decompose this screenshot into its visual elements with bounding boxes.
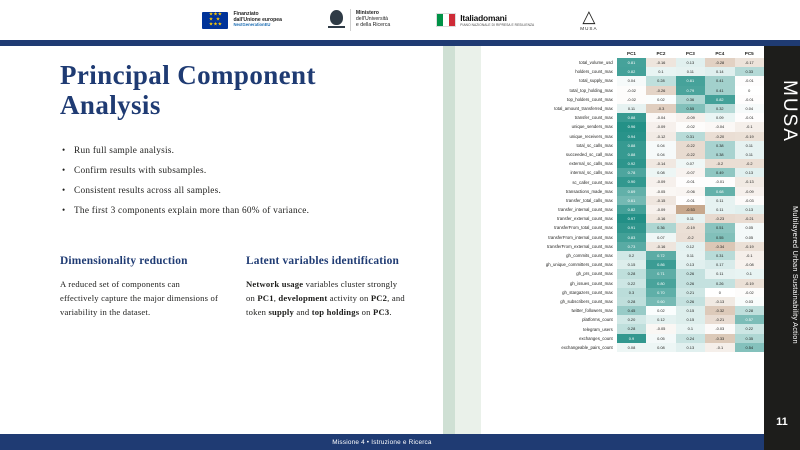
heatmap-cell-wrap: -0.1 bbox=[705, 343, 734, 352]
heatmap-table: PC1PC2PC3PC4PC5total_volume_usd0.81-0.16… bbox=[463, 50, 764, 352]
heatmap-cell-wrap: -0.20 bbox=[705, 132, 734, 141]
heatmap-cell: 0.15 bbox=[676, 306, 705, 315]
heatmap-row-label: total_volume_usd bbox=[463, 58, 617, 67]
heatmap-cell-wrap: 0.07 bbox=[676, 159, 705, 168]
heatmap-cell: 0.88 bbox=[617, 113, 646, 122]
heatmap-cell: 0.05 bbox=[735, 223, 765, 232]
heatmap-cell-wrap: 0.12 bbox=[676, 242, 705, 251]
heatmap-cell-wrap: -0.2 bbox=[735, 159, 765, 168]
heatmap-cell-wrap: -0.09 bbox=[646, 177, 675, 186]
heatmap-cell-wrap: 0.54 bbox=[735, 343, 765, 352]
heatmap-cell-wrap: -0.04 bbox=[705, 122, 734, 131]
heatmap-cell-wrap: 0.09 bbox=[705, 113, 734, 122]
heatmap-cell: -0.04 bbox=[705, 122, 734, 131]
heatmap-cell-wrap: 0.92 bbox=[617, 159, 646, 168]
heatmap-cell: -0.22 bbox=[676, 141, 705, 150]
heatmap-cell-wrap: -0.02 bbox=[735, 288, 765, 297]
heatmap-cell-wrap: 0.04 bbox=[735, 104, 765, 113]
heatmap-cell: 0.04 bbox=[735, 104, 765, 113]
heatmap-cell: -0.01 bbox=[676, 196, 705, 205]
republic-emblem-icon bbox=[328, 10, 345, 30]
heatmap-cell: -0.12 bbox=[646, 132, 675, 141]
heatmap-cell: -0.2 bbox=[676, 233, 705, 242]
heatmap-cell-wrap: -0.2 bbox=[705, 159, 734, 168]
heatmap-cell-wrap: 0.28 bbox=[617, 297, 646, 306]
table-row: sc_caller_count_max0.90-0.09-0.01-0.01-0… bbox=[463, 177, 764, 186]
heatmap-row-label: twitter_followers_max bbox=[463, 306, 617, 315]
heatmap-row-label: total_supply_max bbox=[463, 76, 617, 85]
heatmap-cell-wrap: 0.03 bbox=[735, 297, 765, 306]
heatmap-cell-wrap: -0.02 bbox=[676, 122, 705, 131]
heatmap-cell-wrap: 0.13 bbox=[735, 168, 765, 177]
heatmap-cell: 0.13 bbox=[735, 205, 765, 214]
heatmap-cell-wrap: -0.3 bbox=[646, 104, 675, 113]
heatmap-cell: 0.15 bbox=[676, 315, 705, 324]
heatmap-cell: 0.38 bbox=[705, 150, 734, 159]
heatmap-cell-wrap: 0 bbox=[735, 86, 765, 95]
heatmap-cell: -0.09 bbox=[646, 177, 675, 186]
heatmap-cell: -0.26 bbox=[646, 86, 675, 95]
heatmap-cell: -0.19 bbox=[676, 223, 705, 232]
heatmap-cell-wrap: -0.32 bbox=[705, 306, 734, 315]
heatmap-cell-wrap: 0.28 bbox=[617, 324, 646, 333]
italy-flag-icon bbox=[436, 13, 456, 27]
heatmap-cell-wrap: -0.02 bbox=[617, 95, 646, 104]
heatmap-cell: 0.81 bbox=[676, 76, 705, 85]
heatmap-cell-wrap: 0.1 bbox=[646, 67, 675, 76]
table-row: total_supply_max0.040.280.810.41-0.01 bbox=[463, 76, 764, 85]
heatmap-cell-wrap: -0.19 bbox=[735, 279, 765, 288]
ministero-line3: e della Ricerca bbox=[356, 23, 390, 29]
heatmap-cell-wrap: 0.1 bbox=[676, 324, 705, 333]
heatmap-cell: -0.22 bbox=[676, 150, 705, 159]
heatmap-cell-wrap: 0.81 bbox=[676, 76, 705, 85]
heatmap-cell: 0.71 bbox=[646, 269, 675, 278]
heatmap-cell: -0.14 bbox=[646, 159, 675, 168]
heatmap-cell-wrap: 0.82 bbox=[617, 67, 646, 76]
heatmap-cell: 0.28 bbox=[617, 324, 646, 333]
heatmap-cell-wrap: 0.38 bbox=[705, 150, 734, 159]
heatmap-cell: 0.13 bbox=[735, 168, 765, 177]
heatmap-row-label: succeeded_sc_call_max bbox=[463, 150, 617, 159]
heatmap-cell-wrap: -0.34 bbox=[705, 242, 734, 251]
eu-flag-icon: ★★★★ ★★★★ bbox=[202, 12, 228, 29]
heatmap-col-header: PC4 bbox=[705, 50, 734, 58]
heatmap-cell: 0.49 bbox=[705, 168, 734, 177]
heatmap-cell-wrap: -0.23 bbox=[705, 214, 734, 223]
table-row: total_sc_calls_max0.880.04-0.220.380.11 bbox=[463, 141, 764, 150]
heatmap-cell-wrap: -0.02 bbox=[617, 86, 646, 95]
heatmap-cell-wrap: 0.11 bbox=[735, 141, 765, 150]
bullet-list: Run full sample analysis. Confirm result… bbox=[62, 146, 434, 226]
heatmap-cell-wrap: 0.11 bbox=[676, 67, 705, 76]
heatmap-cell-wrap: 0.11 bbox=[705, 205, 734, 214]
heatmap-cell: 0.11 bbox=[705, 196, 734, 205]
heatmap-cell: 0.82 bbox=[617, 205, 646, 214]
heatmap-cell: 0 bbox=[705, 288, 734, 297]
heatmap-cell: 0.03 bbox=[735, 297, 765, 306]
table-row: exchanges_count0.90.050.24-0.330.35 bbox=[463, 334, 764, 343]
heatmap-cell: 0.69 bbox=[617, 187, 646, 196]
list-item: Run full sample analysis. bbox=[74, 146, 434, 156]
heatmap-col-header: PC2 bbox=[646, 50, 675, 58]
tree-icon: △ bbox=[582, 9, 595, 25]
table-row: total_amount_transferred_max0.11-0.30.55… bbox=[463, 104, 764, 113]
heatmap-cell: 0.15 bbox=[617, 260, 646, 269]
table-row: internal_sc_calls_max0.780.08-0.070.490.… bbox=[463, 168, 764, 177]
heatmap-cell: -0.09 bbox=[735, 187, 765, 196]
heatmap-row-label: total_sc_calls_max bbox=[463, 141, 617, 150]
logo-divider bbox=[350, 9, 351, 31]
heatmap-cell: 0.05 bbox=[735, 233, 765, 242]
heatmap-cell: 0.24 bbox=[676, 334, 705, 343]
heatmap-cell-wrap: 0.60 bbox=[646, 297, 675, 306]
heatmap-cell: 0.11 bbox=[705, 269, 734, 278]
heatmap-cell: -0.08 bbox=[735, 260, 765, 269]
heatmap-cell-wrap: -0.04 bbox=[646, 113, 675, 122]
heatmap-cell-wrap: 0.73 bbox=[617, 242, 646, 251]
heatmap-cell-wrap: 0.20 bbox=[617, 315, 646, 324]
heatmap-cell-wrap: 0.96 bbox=[617, 122, 646, 131]
heatmap-col-header: PC1 bbox=[617, 50, 646, 58]
heatmap-cell: 0.36 bbox=[676, 95, 705, 104]
heatmap-cell-wrap: -0.08 bbox=[735, 260, 765, 269]
heatmap-cell: 0.09 bbox=[705, 113, 734, 122]
heatmap-cell-wrap: -0.28 bbox=[705, 58, 734, 67]
heatmap-cell-wrap: -0.01 bbox=[676, 177, 705, 186]
heatmap-cell: 0.07 bbox=[646, 233, 675, 242]
heatmap-cell-wrap: 0.13 bbox=[676, 260, 705, 269]
heatmap-cell: 0.32 bbox=[705, 104, 734, 113]
heatmap-cell-wrap: 0.55 bbox=[676, 104, 705, 113]
heatmap-cell-wrap: -0.15 bbox=[646, 196, 675, 205]
table-row: holders_count_max0.820.10.110.140.33 bbox=[463, 67, 764, 76]
heatmap-cell-wrap: -0.01 bbox=[705, 177, 734, 186]
sidebar-tagline: Multilayered Urban Sustainability Action bbox=[764, 206, 800, 344]
heatmap-cell: 0.11 bbox=[676, 67, 705, 76]
heatmap-row-label: transferFrom_external_count_max bbox=[463, 242, 617, 251]
table-row: transfer_total_calls_max0.61-0.15-0.010.… bbox=[463, 196, 764, 205]
heatmap-cell: 0.08 bbox=[646, 343, 675, 352]
heatmap-cell-wrap: 0.3 bbox=[617, 288, 646, 297]
heatmap-cell: 0.28 bbox=[617, 269, 646, 278]
heatmap-cell: -0.07 bbox=[676, 168, 705, 177]
heatmap-cell-wrap: -0.01 bbox=[676, 196, 705, 205]
heatmap-cell-wrap: 0.79 bbox=[676, 86, 705, 95]
heatmap-cell-wrap: 0.02 bbox=[646, 95, 675, 104]
heatmap-cell: -0.06 bbox=[676, 187, 705, 196]
heatmap-cell-wrap: 0.11 bbox=[676, 251, 705, 260]
list-item: Consistent results across all samples. bbox=[74, 186, 434, 196]
table-row: succeeded_sc_call_max0.880.04-0.220.380.… bbox=[463, 150, 764, 159]
table-row: transferFrom_internal_count_max0.830.07-… bbox=[463, 233, 764, 242]
heatmap-cell-wrap: 0.26 bbox=[676, 269, 705, 278]
heatmap-cell-wrap: -0.14 bbox=[646, 159, 675, 168]
heatmap-cell-wrap: -0.12 bbox=[646, 132, 675, 141]
heatmap-cell: 0.11 bbox=[735, 150, 765, 159]
heatmap-cell: 0.22 bbox=[617, 279, 646, 288]
heatmap-cell-wrap: 0.12 bbox=[646, 315, 675, 324]
heatmap-cell-wrap: 0.90 bbox=[617, 177, 646, 186]
table-row: gh_subscribers_count_max0.280.600.26-0.1… bbox=[463, 297, 764, 306]
heatmap-cell-wrap: 0.61 bbox=[617, 196, 646, 205]
heatmap-cell-wrap: 0.11 bbox=[705, 269, 734, 278]
heatmap-row-label: gh_stargazers_count_max bbox=[463, 288, 617, 297]
heatmap-cell: 0.72 bbox=[646, 251, 675, 260]
heatmap-cell: 0.82 bbox=[705, 95, 734, 104]
heatmap-cell: -0.34 bbox=[705, 242, 734, 251]
heatmap-cell: 0.04 bbox=[617, 76, 646, 85]
table-row: gh_prs_count_max0.280.710.260.110.1 bbox=[463, 269, 764, 278]
heatmap-cell-wrap: 0.11 bbox=[735, 150, 765, 159]
heatmap-cell: -0.02 bbox=[617, 95, 646, 104]
heatmap-cell-wrap: 0.41 bbox=[705, 86, 734, 95]
heatmap-cell: 0.07 bbox=[676, 159, 705, 168]
heatmap-row-label: top_holders_count_max bbox=[463, 95, 617, 104]
heatmap-cell: 0.41 bbox=[705, 76, 734, 85]
heatmap-cell: -0.15 bbox=[646, 196, 675, 205]
heatmap-cell-wrap: -0.19 bbox=[735, 242, 765, 251]
heatmap-cell: 0.60 bbox=[646, 297, 675, 306]
heatmap-cell: 0.55 bbox=[676, 104, 705, 113]
heatmap-cell: 0.26 bbox=[676, 297, 705, 306]
sidebar-brand: MUSA bbox=[764, 80, 800, 143]
page-title: Principal Component Analysis bbox=[60, 60, 410, 120]
heatmap-cell-wrap: 0.13 bbox=[676, 58, 705, 67]
heatmap-row-label: total_amount_transferred_max bbox=[463, 104, 617, 113]
heatmap-cell: -0.05 bbox=[646, 187, 675, 196]
heatmap-cell: -0.01 bbox=[705, 177, 734, 186]
italiadomani-logo: Italiadomani PIANO NAZIONALE DI RIPRESA … bbox=[436, 13, 534, 27]
heatmap-cell-wrap: 0.05 bbox=[646, 334, 675, 343]
heatmap-row-label: transfer_internal_count_max bbox=[463, 205, 617, 214]
heatmap-cell-wrap: 0.22 bbox=[735, 324, 765, 333]
heatmap-cell: -0.20 bbox=[705, 132, 734, 141]
heatmap-cell: 0.82 bbox=[617, 67, 646, 76]
list-item: Confirm results with subsamples. bbox=[74, 166, 434, 176]
heatmap-cell-wrap: -0.33 bbox=[705, 334, 734, 343]
heatmap-cell: -0.09 bbox=[646, 205, 675, 214]
heatmap-row-label: holders_count_max bbox=[463, 67, 617, 76]
heatmap-cell: -0.21 bbox=[705, 315, 734, 324]
heatmap-cell-wrap: -0.07 bbox=[676, 168, 705, 177]
table-row: external_sc_calls_max0.92-0.140.07-0.2-0… bbox=[463, 159, 764, 168]
heatmap-cell-wrap: -0.1 bbox=[735, 251, 765, 260]
heatmap-cell-wrap: -0.22 bbox=[676, 150, 705, 159]
heatmap-row-label: gh_prs_count_max bbox=[463, 269, 617, 278]
heatmap-row-label: platforms_count bbox=[463, 315, 617, 324]
heatmap-cell-wrap: 0.88 bbox=[617, 113, 646, 122]
heatmap-cell: -0.16 bbox=[646, 214, 675, 223]
page-number: 11 bbox=[764, 416, 800, 428]
heatmap-cell: 0.35 bbox=[735, 334, 765, 343]
heatmap-cell: 0.02 bbox=[646, 306, 675, 315]
heatmap-cell: 0.57 bbox=[735, 315, 765, 324]
heatmap-cell-wrap: 0.57 bbox=[735, 315, 765, 324]
heatmap-cell: 0.12 bbox=[646, 315, 675, 324]
heatmap-cell-wrap: 0.08 bbox=[646, 343, 675, 352]
heatmap-cell-wrap: -0.09 bbox=[735, 187, 765, 196]
heatmap-cell-wrap: 0.80 bbox=[646, 279, 675, 288]
heatmap-cell: 0.9 bbox=[617, 334, 646, 343]
heatmap-cell-wrap: 0.04 bbox=[646, 141, 675, 150]
heatmap-row-label: unique_receivers_max bbox=[463, 132, 617, 141]
heatmap-cell-wrap: -0.09 bbox=[676, 113, 705, 122]
heatmap-cell-wrap: 0.21 bbox=[676, 288, 705, 297]
heatmap-cell: 0.28 bbox=[617, 297, 646, 306]
heatmap-cell-wrap: 0.88 bbox=[617, 141, 646, 150]
table-row: total_top_holding_max-0.02-0.260.790.410 bbox=[463, 86, 764, 95]
heatmap-cell-wrap: 0.05 bbox=[735, 233, 765, 242]
column-dimensionality-reduction: Dimensionality reduction A reduced set o… bbox=[60, 255, 220, 320]
table-row: transferFrom_total_count_max0.910.36-0.1… bbox=[463, 223, 764, 232]
heatmap-cell: -0.02 bbox=[617, 86, 646, 95]
heatmap-cell-wrap: 0.41 bbox=[705, 76, 734, 85]
heatmap-cell: 0.88 bbox=[617, 141, 646, 150]
heatmap-cell-wrap: 0.33 bbox=[735, 67, 765, 76]
heatmap-col-header: PC3 bbox=[676, 50, 705, 58]
two-column-section: Dimensionality reduction A reduced set o… bbox=[60, 255, 430, 320]
heatmap-cell: -0.33 bbox=[705, 334, 734, 343]
table-row: gh_issues_count_max0.220.800.260.26-0.19 bbox=[463, 279, 764, 288]
heatmap-cell: 0.11 bbox=[735, 141, 765, 150]
column-body: Network usage variables cluster strongly… bbox=[246, 278, 406, 320]
heatmap-cell: 0.26 bbox=[676, 269, 705, 278]
heatmap-cell-wrap: 0.35 bbox=[735, 334, 765, 343]
top-logo-bar: ★★★★ ★★★★ Finanziato dall'Unione europea… bbox=[0, 0, 800, 40]
heatmap-row-label: gh_unique_committers_count_max bbox=[463, 260, 617, 269]
heatmap-cell: 0.86 bbox=[646, 260, 675, 269]
heatmap-cell: -0.21 bbox=[735, 214, 765, 223]
heatmap-cell: 0.08 bbox=[646, 168, 675, 177]
heatmap-cell: 0.96 bbox=[617, 122, 646, 131]
heatmap-cell: -0.03 bbox=[705, 324, 734, 333]
heatmap-cell-wrap: 0.14 bbox=[705, 67, 734, 76]
heatmap-cell: -0.19 bbox=[735, 132, 765, 141]
italiadomani-line2: PIANO NAZIONALE DI RIPRESA E RESILIENZA bbox=[460, 23, 534, 27]
heatmap-cell-wrap: -0.19 bbox=[735, 132, 765, 141]
heatmap-row-label: exchangeable_pairs_count bbox=[463, 343, 617, 352]
heatmap-cell-wrap: 0.26 bbox=[676, 279, 705, 288]
heatmap-cell-wrap: -0.21 bbox=[735, 214, 765, 223]
heatmap-cell-wrap: 0.83 bbox=[617, 233, 646, 242]
heatmap-cell-wrap: 0.26 bbox=[676, 297, 705, 306]
heatmap-cell: -0.28 bbox=[705, 58, 734, 67]
heatmap-cell-wrap: -0.22 bbox=[676, 141, 705, 150]
musa-logo-word: MUSA bbox=[580, 26, 597, 31]
heatmap-cell-wrap: 0.28 bbox=[617, 269, 646, 278]
heatmap-cell-wrap: 0.04 bbox=[617, 76, 646, 85]
eu-logo-line3: NextGenerationEU bbox=[233, 23, 281, 28]
heatmap-cell: -0.16 bbox=[646, 58, 675, 67]
eu-next-generation-logo: ★★★★ ★★★★ Finanziato dall'Unione europea… bbox=[202, 12, 281, 29]
heatmap-cell-wrap: 0.36 bbox=[646, 223, 675, 232]
heatmap-cell: 0.26 bbox=[705, 279, 734, 288]
heatmap-cell-wrap: -0.03 bbox=[735, 196, 765, 205]
heatmap-cell-wrap: 0.78 bbox=[617, 168, 646, 177]
heatmap-cell-wrap: 0.04 bbox=[646, 150, 675, 159]
heatmap-cell: 0.20 bbox=[617, 315, 646, 324]
table-row: transfer_count_max0.88-0.04-0.090.09-0.0… bbox=[463, 113, 764, 122]
list-item: The first 3 components explain more than… bbox=[74, 206, 434, 216]
heatmap-col-header: PC5 bbox=[735, 50, 765, 58]
heatmap-cell: -0.02 bbox=[735, 288, 765, 297]
heatmap-cell-wrap: 0.1 bbox=[735, 269, 765, 278]
heatmap-cell: 0.78 bbox=[617, 168, 646, 177]
table-row: total_volume_usd0.81-0.160.13-0.28-0.17 bbox=[463, 58, 764, 67]
table-row: exchangeable_pairs_count0.080.080.13-0.1… bbox=[463, 343, 764, 352]
heatmap-cell: 0.81 bbox=[617, 58, 646, 67]
column-heading: Dimensionality reduction bbox=[60, 255, 220, 268]
heatmap-row-label: unique_senders_max bbox=[463, 122, 617, 131]
heatmap-cell: 0.1 bbox=[676, 324, 705, 333]
heatmap-cell-wrap: -0.05 bbox=[646, 324, 675, 333]
heatmap-cell-wrap: -0.19 bbox=[676, 223, 705, 232]
heatmap-cell-wrap: 0.22 bbox=[617, 279, 646, 288]
heatmap-row-label: exchanges_count bbox=[463, 334, 617, 343]
heatmap-cell-wrap: -0.26 bbox=[646, 86, 675, 95]
heatmap-cell-wrap: 0.82 bbox=[617, 205, 646, 214]
table-row: gh_commits_count_max0.20.720.110.31-0.1 bbox=[463, 251, 764, 260]
heatmap-cell: 0.31 bbox=[705, 251, 734, 260]
heatmap-cell: 0.31 bbox=[676, 132, 705, 141]
heatmap-cell: 0.2 bbox=[617, 251, 646, 260]
heatmap-cell: 0.54 bbox=[735, 343, 765, 352]
heatmap-cell-wrap: 0.68 bbox=[705, 187, 734, 196]
heatmap-cell: 0.73 bbox=[617, 242, 646, 251]
heatmap-cell-wrap: 0.05 bbox=[735, 223, 765, 232]
heatmap-cell: 0.14 bbox=[705, 67, 734, 76]
heatmap-cell-wrap: 0.15 bbox=[676, 306, 705, 315]
heatmap-row-label: internal_sc_calls_max bbox=[463, 168, 617, 177]
heatmap-row-label: telegram_users bbox=[463, 324, 617, 333]
heatmap-cell-wrap: 0.08 bbox=[617, 343, 646, 352]
heatmap-row-label: transferFrom_total_count_max bbox=[463, 223, 617, 232]
heatmap-cell-wrap: 0.36 bbox=[676, 95, 705, 104]
heatmap-cell-wrap: 0.26 bbox=[705, 279, 734, 288]
heatmap-cell-wrap: 0.45 bbox=[617, 306, 646, 315]
heatmap-cell-wrap: 0.71 bbox=[646, 269, 675, 278]
table-row: twitter_followers_max0.450.020.15-0.320.… bbox=[463, 306, 764, 315]
heatmap-cell: 0.38 bbox=[705, 141, 734, 150]
heatmap-cell-wrap: -0.09 bbox=[646, 122, 675, 131]
heatmap-cell: 0.51 bbox=[705, 223, 734, 232]
heatmap-cell: 0.3 bbox=[617, 288, 646, 297]
heatmap-cell: 0.26 bbox=[676, 279, 705, 288]
heatmap-cell-wrap: 0.13 bbox=[676, 343, 705, 352]
heatmap-cell: 0.28 bbox=[646, 76, 675, 85]
heatmap-cell: -0.19 bbox=[735, 242, 765, 251]
heatmap-cell-wrap: -0.21 bbox=[705, 315, 734, 324]
heatmap-cell: -0.53 bbox=[676, 205, 705, 214]
heatmap-row-label: gh_commits_count_max bbox=[463, 251, 617, 260]
table-row: unique_receivers_max0.94-0.120.31-0.20-0… bbox=[463, 132, 764, 141]
heatmap-cell-wrap: 0.69 bbox=[617, 187, 646, 196]
heatmap-cell-wrap: -0.53 bbox=[676, 205, 705, 214]
heatmap-cell-wrap: -0.09 bbox=[646, 205, 675, 214]
heatmap-cell: -0.03 bbox=[735, 196, 765, 205]
heatmap-row-label: transfer_total_calls_max bbox=[463, 196, 617, 205]
footer-bar: Missione 4 • Istruzione e Ricerca bbox=[0, 434, 764, 450]
heatmap-cell-wrap: 0.9 bbox=[617, 334, 646, 343]
heatmap-cell-wrap: -0.16 bbox=[646, 242, 675, 251]
heatmap-cell-wrap: 0.15 bbox=[676, 315, 705, 324]
heatmap-cell-wrap: 0 bbox=[705, 288, 734, 297]
heatmap-cell: 0.83 bbox=[617, 233, 646, 242]
heatmap-cell: 0.02 bbox=[646, 95, 675, 104]
heatmap-cell: 0.33 bbox=[735, 67, 765, 76]
heatmap-cell: 0.41 bbox=[705, 86, 734, 95]
